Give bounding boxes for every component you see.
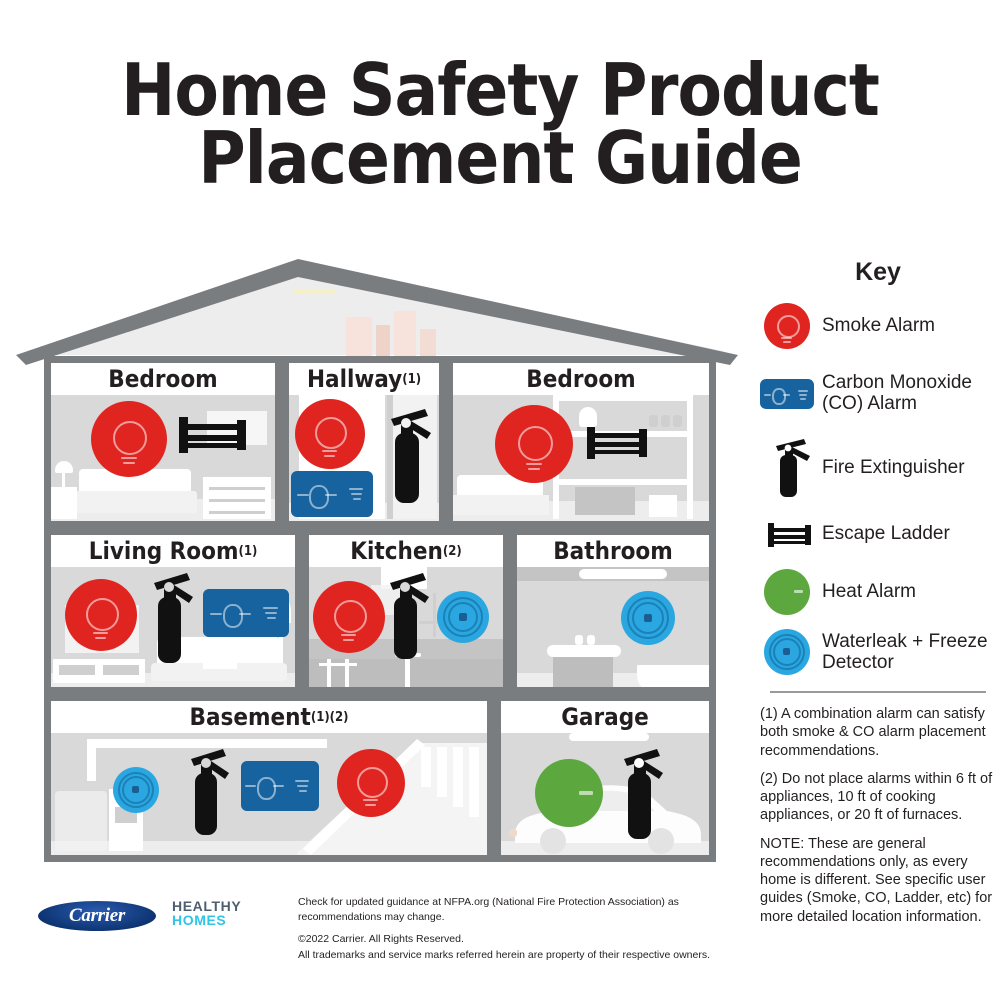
mirror-light [579,569,667,579]
scene-hallway [289,395,439,521]
note-2: (2) Do not place alarms within 6 ft of a… [760,770,996,825]
note-3: NOTE: These are general recommendations … [760,835,996,926]
room-hallway: Hallway(1) [282,356,446,528]
carrier-logo: Carrier [38,901,156,931]
room-label-bedroom-right: Bedroom [453,363,709,395]
device-smoke-alarm[interactable] [337,749,405,817]
healthy-homes-line-1: HEALTHY [172,899,241,913]
duct-vertical [87,739,96,781]
device-smoke-alarm[interactable] [295,399,365,469]
stool [649,495,677,517]
bed-base [453,495,549,515]
shelf-item-3 [673,415,682,427]
room-living-room: Living Room(1) [44,528,302,694]
carrier-logo-text: Carrier [69,905,125,927]
bed-base [75,491,197,513]
page-title: Home Safety Product Placement Guide [0,56,1000,193]
key-item-fire-extinguisher: Fire Extinguisher [756,433,1000,503]
bathtub [637,665,709,687]
shelf-item-1 [649,415,658,427]
scene-bedroom-left [51,395,275,521]
co-alarm-icon [756,357,822,429]
infographic-page: Home Safety Product Placement Guide Bedr… [0,0,1000,1000]
key-item-escape-ladder: Escape Ladder [756,507,1000,561]
key-divider [770,691,986,693]
key-item-smoke-alarm: Smoke Alarm [756,299,1000,353]
key-label-smoke-alarm: Smoke Alarm [822,315,935,336]
device-smoke-alarm[interactable] [65,579,137,651]
dresser-line-2 [209,499,265,502]
roof-icon [8,255,748,365]
room-bathroom: Bathroom [510,528,716,694]
device-waterleak-detector[interactable] [113,767,159,813]
scene-garage [501,733,709,855]
room-bedroom-right: Bedroom [446,356,716,528]
key-label-fire-extinguisher: Fire Extinguisher [822,457,965,478]
faucet-right [587,635,595,645]
key-item-heat-alarm: Heat Alarm [756,565,1000,619]
device-co-alarm[interactable] [203,589,289,637]
device-heat-alarm[interactable] [535,759,603,827]
room-bedroom-left: Bedroom [44,356,282,528]
waterleak-freeze-detector-icon [756,623,822,681]
note-1: (1) A combination alarm can satisfy both… [760,705,996,760]
device-escape-ladder[interactable] [179,417,249,453]
room-kitchen: Kitchen(2) [302,528,510,694]
desk-drawer [575,487,635,515]
vanity-cabinet [553,655,613,687]
shelf-side-right [687,395,693,519]
device-fire-extinguisher[interactable] [145,571,195,671]
footer-guidance: Check for updated guidance at NFPA.org (… [298,895,748,925]
footer-fineprint: Check for updated guidance at NFPA.org (… [298,895,748,963]
device-co-alarm[interactable] [241,761,319,811]
nightstand [51,487,77,519]
room-label-bedroom-left: Bedroom [51,363,275,395]
car-illustration [501,777,709,855]
key-item-waterleak-detector: Waterleak + Freeze Detector [756,623,1000,681]
room-label-kitchen: Kitchen(2) [309,535,503,567]
key-label-waterleak-detector: Waterleak + Freeze Detector [822,631,1000,674]
floor-main: Living Room(1) [44,528,716,694]
room-label-bathroom: Bathroom [517,535,709,567]
room-garage: Garage [494,694,716,862]
floor-upper: Bedroom [44,356,716,528]
title-line-2: Placement Guide [0,124,1000,192]
desk-lamp [579,407,597,427]
shelf-low [553,479,693,485]
scene-bedroom-right [453,395,709,521]
escape-ladder-icon [756,507,822,561]
key-label-co-alarm: Carbon Monoxide (CO) Alarm [822,372,1000,415]
device-smoke-alarm[interactable] [313,581,385,653]
floor-lower: Basement(1)(2) [44,694,716,862]
room-label-garage: Garage [501,701,709,733]
room-label-hallway: Hallway(1) [289,363,439,395]
key-label-heat-alarm: Heat Alarm [822,581,916,602]
device-fire-extinguisher[interactable] [381,573,431,665]
stool-rail-1 [319,663,339,666]
key-panel: Key Smoke Alarm [756,258,1000,936]
console-drawer-1 [59,665,95,675]
sink-basin [547,645,621,657]
footer-trademarks: All trademarks and service marks referre… [298,948,748,963]
device-smoke-alarm[interactable] [91,401,167,477]
device-fire-extinguisher[interactable] [381,407,433,511]
dresser-line-1 [209,487,265,490]
device-escape-ladder[interactable] [587,427,649,459]
fire-extinguisher-icon [756,433,822,503]
room-label-basement: Basement(1)(2) [51,701,487,733]
footer: Carrier HEALTHY HOMES Check for updated … [30,893,750,953]
faucet-stem [433,593,436,637]
heat-alarm-icon [756,565,822,619]
garage-light [569,733,649,741]
healthy-homes-logo: HEALTHY HOMES [172,899,241,928]
sofa-cushion [203,649,237,669]
key-label-escape-ladder: Escape Ladder [822,523,950,544]
shelf-item-2 [661,415,670,427]
key-notes: (1) A combination alarm can satisfy both… [760,705,996,926]
room-basement: Basement(1)(2) [44,694,494,862]
room-label-living-room: Living Room(1) [51,535,295,567]
smoke-alarm-icon [756,299,822,353]
console-drawer-2 [103,665,139,675]
key-heading: Key [756,258,1000,287]
device-fire-extinguisher[interactable] [615,747,665,845]
lamp-shade [55,461,73,473]
house-diagram: Bedroom [8,255,748,885]
healthy-homes-line-2: HOMES [172,913,241,927]
scene-living-room [51,567,295,687]
faucet-left [575,635,583,645]
scene-kitchen [309,567,503,687]
device-smoke-alarm[interactable] [495,405,573,483]
key-item-co-alarm: Carbon Monoxide (CO) Alarm [756,357,1000,429]
device-fire-extinguisher[interactable] [183,749,231,841]
water-heater [55,791,107,851]
duct-horizontal [87,739,327,748]
lamp-stem [62,473,65,487]
dresser-line-3 [209,511,265,514]
scene-basement [51,733,487,855]
stool-rail-2 [337,663,357,666]
device-waterleak-detector[interactable] [437,591,489,643]
device-waterleak-detector[interactable] [621,591,675,645]
footer-copyright: ©2022 Carrier. All Rights Reserved. [298,932,748,947]
shelf-top [553,395,693,401]
device-co-alarm[interactable] [291,471,373,517]
scene-bathroom [517,567,709,687]
